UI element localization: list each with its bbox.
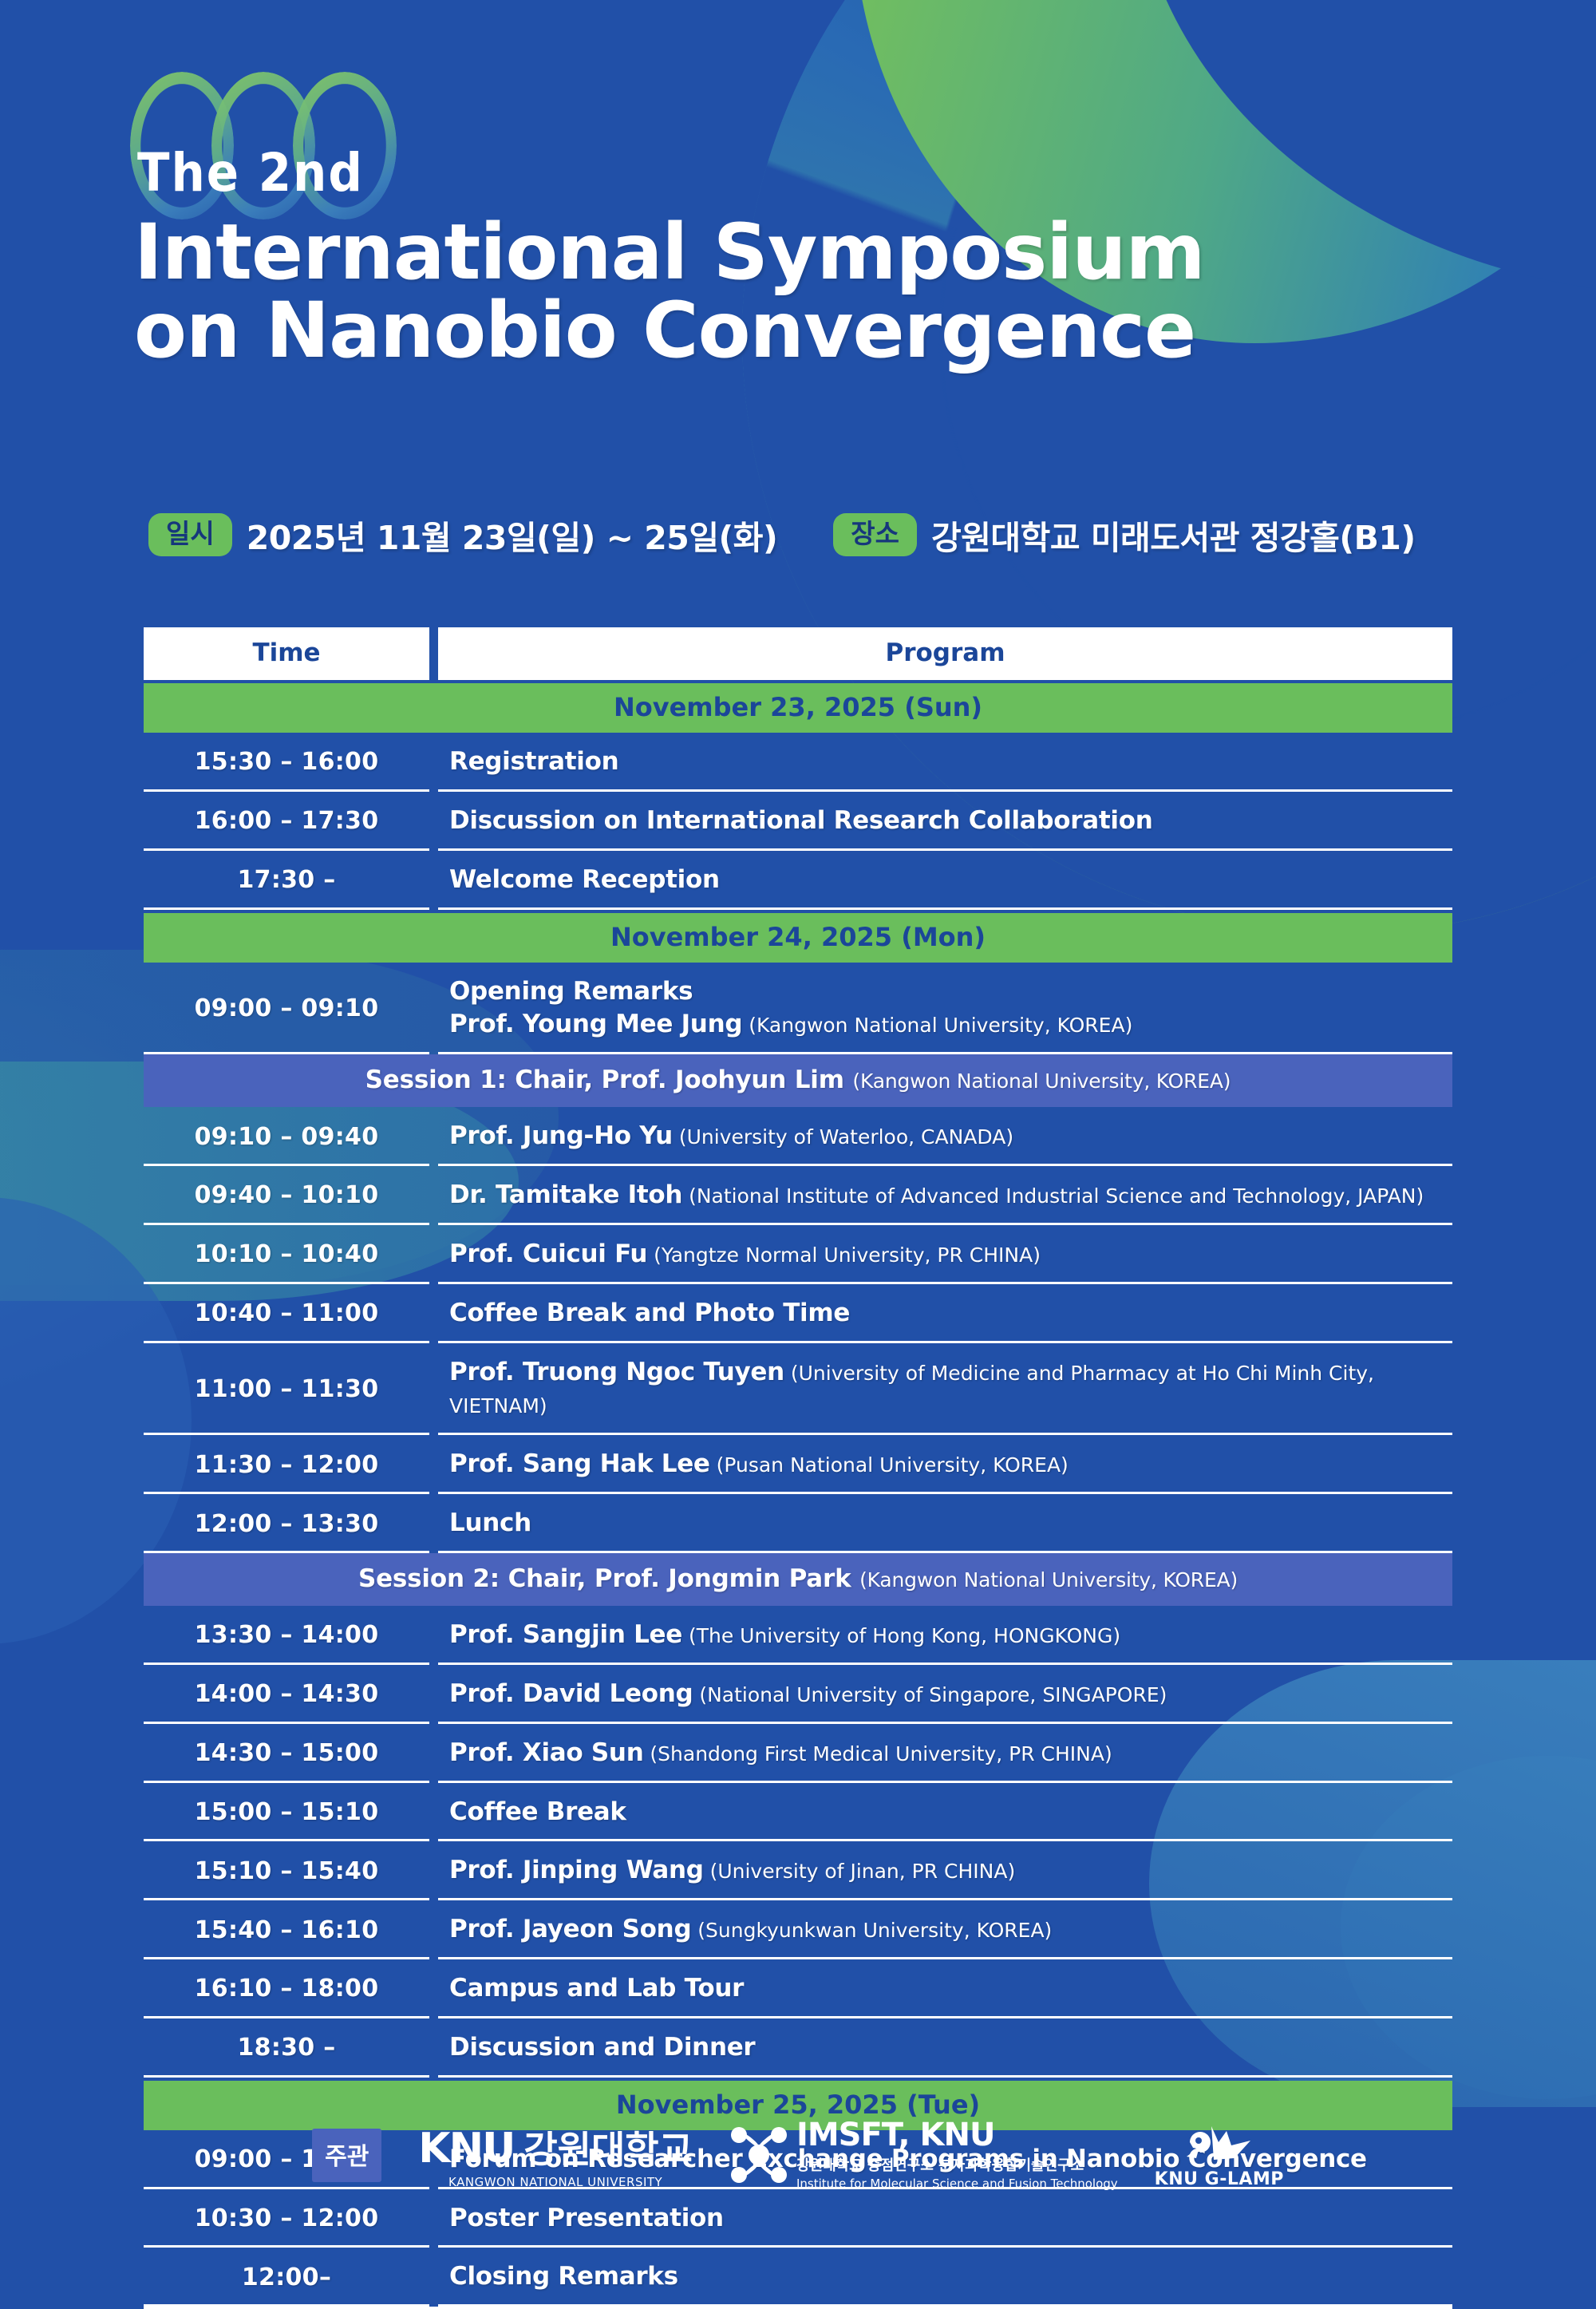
- row-program: Lunch: [438, 1494, 1452, 1553]
- glamp-logo: KNU G-LAMP: [1155, 2121, 1284, 2189]
- program-line: Welcome Reception: [449, 864, 1452, 897]
- row-time: 12:00–: [144, 2248, 429, 2307]
- row-program: Coffee Break and Photo Time: [438, 1284, 1452, 1343]
- imsft-title: IMSFT, KNU: [796, 2119, 1118, 2151]
- table-row: 10:30 – 12:00Poster Presentation: [144, 2189, 1452, 2248]
- table-row: 15:30 – 16:00Registration: [144, 733, 1452, 792]
- row-time: 15:40 – 16:10: [144, 1900, 429, 1959]
- table-row: 09:00 – 09:10Opening RemarksProf. Young …: [144, 963, 1452, 1055]
- row-time: 18:30 –: [144, 2018, 429, 2078]
- program-affiliation: (University of Waterloo, CANADA): [673, 1125, 1013, 1149]
- row-program: Prof. Xiao Sun (Shandong First Medical U…: [438, 1724, 1452, 1783]
- table-row: 12:00 – 13:30Lunch: [144, 1494, 1452, 1553]
- row-time: 16:00 – 17:30: [144, 792, 429, 851]
- column-gap: [429, 1435, 438, 1494]
- row-time: 14:00 – 14:30: [144, 1665, 429, 1724]
- row-time: 11:00 – 11:30: [144, 1343, 429, 1436]
- program-title: Prof. Jinping Wang: [449, 1856, 704, 1884]
- row-program: Prof. Sang Hak Lee (Pusan National Unive…: [438, 1435, 1452, 1494]
- session-header: Session 1: Chair, Prof. Joohyun Lim (Kan…: [144, 1054, 1452, 1107]
- program-line: Registration: [449, 745, 1452, 779]
- row-program: Registration: [438, 733, 1452, 792]
- organizer-badge: 주관: [312, 2129, 381, 2182]
- row-program: Coffee Break: [438, 1783, 1452, 1842]
- imsft-text-block: IMSFT, KNU 강원대학교 중점연구소 분자과학융합기술연구소 Insti…: [796, 2119, 1118, 2191]
- date-text: 2025년 11월 23일(일) ~ 25일(화): [247, 511, 778, 559]
- program-title: Prof. Young Mee Jung: [449, 1010, 742, 1038]
- program-title: Opening Remarks: [449, 977, 693, 1006]
- row-program: Poster Presentation: [438, 2189, 1452, 2248]
- table-row: 16:00 – 17:30Discussion on International…: [144, 792, 1452, 851]
- program-title: Closing Remarks: [449, 2262, 678, 2291]
- row-time: 10:40 – 11:00: [144, 1284, 429, 1343]
- session-affiliation: (Kangwon National University, KOREA): [859, 1568, 1238, 1591]
- date-badge: 일시: [148, 513, 232, 556]
- column-gap: [429, 733, 438, 792]
- column-gap: [429, 1900, 438, 1959]
- row-program: Discussion on International Research Col…: [438, 792, 1452, 851]
- column-gap: [429, 792, 438, 851]
- program-title: Discussion and Dinner: [449, 2033, 755, 2062]
- program-affiliation: (Shandong First Medical University, PR C…: [643, 1742, 1112, 1765]
- program-line: Dr. Tamitake Itoh (National Institute of…: [449, 1179, 1452, 1212]
- program-line: Opening Remarks: [449, 975, 1452, 1009]
- venue-text: 강원대학교 미래도서관 정강홀(B1): [931, 511, 1416, 559]
- session-header: Session 2: Chair, Prof. Jongmin Park (Ka…: [144, 1553, 1452, 1606]
- table-row: 15:00 – 15:10Coffee Break: [144, 1783, 1452, 1842]
- row-time: 10:30 – 12:00: [144, 2189, 429, 2248]
- row-time: 12:00 – 13:30: [144, 1494, 429, 1553]
- table-row: 15:40 – 16:10Prof. Jayeon Song (Sungkyun…: [144, 1900, 1452, 1959]
- column-header-program: Program: [438, 627, 1452, 680]
- program-title: Prof. Xiao Sun: [449, 1738, 643, 1767]
- program-title: Prof. Truong Ngoc Tuyen: [449, 1358, 784, 1386]
- row-time: 17:30 –: [144, 851, 429, 910]
- row-time: 15:30 – 16:00: [144, 733, 429, 792]
- table-row: 10:40 – 11:00Coffee Break and Photo Time: [144, 1284, 1452, 1343]
- row-time: 13:30 – 14:00: [144, 1606, 429, 1665]
- program-affiliation: (Kangwon National University, KOREA): [742, 1014, 1132, 1037]
- imsft-korean: 강원대학교 중점연구소 분자과학융합기술연구소: [796, 2154, 1118, 2175]
- program-line: Prof. Young Mee Jung (Kangwon National U…: [449, 1008, 1452, 1042]
- column-gap: [429, 1343, 438, 1436]
- event-meta: 일시 2025년 11월 23일(일) ~ 25일(화) 장소 강원대학교 미래…: [148, 511, 1416, 559]
- footer-logos: 주관 KNU 강원대학교 KANGWON NATIONAL UNIVERSITY…: [0, 2119, 1596, 2191]
- session-title: Session 1: Chair, Prof. Joohyun Lim: [365, 1066, 844, 1094]
- table-body: November 23, 2025 (Sun)15:30 – 16:00Regi…: [144, 683, 1452, 2309]
- table-row: 14:00 – 14:30Prof. David Leong (National…: [144, 1665, 1452, 1724]
- program-title: Prof. Cuicui Fu: [449, 1240, 647, 1268]
- program-line: Coffee Break: [449, 1796, 1452, 1829]
- column-gap: [429, 1284, 438, 1343]
- row-program: Prof. Jayeon Song (Sungkyunkwan Universi…: [438, 1900, 1452, 1959]
- row-program: Prof. David Leong (National University o…: [438, 1665, 1452, 1724]
- program-affiliation: (National Institute of Advanced Industri…: [682, 1184, 1424, 1208]
- table-row: 16:10 – 18:00Campus and Lab Tour: [144, 1959, 1452, 2018]
- row-program: Discussion and Dinner: [438, 2018, 1452, 2078]
- program-line: Closing Remarks: [449, 2260, 1452, 2294]
- column-gap: [429, 963, 438, 1055]
- program-title: Coffee Break: [449, 1797, 626, 1826]
- program-title: Registration: [449, 747, 618, 776]
- column-gap: [429, 1606, 438, 1665]
- table-row: 12:00–Closing Remarks: [144, 2248, 1452, 2309]
- row-program: Prof. Jung-Ho Yu (University of Waterloo…: [438, 1107, 1452, 1166]
- program-line: Poster Presentation: [449, 2202, 1452, 2236]
- program-affiliation: (Yangtze Normal University, PR CHINA): [647, 1243, 1041, 1267]
- table-row: 17:30 –Welcome Reception: [144, 851, 1452, 910]
- program-title: Coffee Break and Photo Time: [449, 1299, 850, 1327]
- program-title: Discussion on International Research Col…: [449, 806, 1153, 835]
- row-time: 16:10 – 18:00: [144, 1959, 429, 2018]
- column-header-time: Time: [144, 627, 429, 680]
- molecule-icon: [729, 2125, 788, 2184]
- column-gap: [429, 1107, 438, 1166]
- column-gap: [429, 1724, 438, 1783]
- program-title: Dr. Tamitake Itoh: [449, 1180, 682, 1209]
- row-time: 09:00 – 09:10: [144, 963, 429, 1055]
- program-title: Welcome Reception: [449, 865, 720, 894]
- program-affiliation: (Pusan National University, KOREA): [710, 1453, 1069, 1477]
- row-program: Prof. Jinping Wang (University of Jinan,…: [438, 1841, 1452, 1900]
- table-row: 10:10 – 10:40Prof. Cuicui Fu (Yangtze No…: [144, 1225, 1452, 1284]
- column-gap: [429, 1665, 438, 1724]
- program-title: Prof. David Leong: [449, 1679, 693, 1708]
- row-program: Prof. Sangjin Lee (The University of Hon…: [438, 1606, 1452, 1665]
- knu-mark-text: KNU: [418, 2125, 514, 2173]
- row-program: Closing Remarks: [438, 2248, 1452, 2307]
- row-program: Welcome Reception: [438, 851, 1452, 910]
- program-title: Prof. Jayeon Song: [449, 1915, 691, 1943]
- row-time: 11:30 – 12:00: [144, 1435, 429, 1494]
- column-gap: [429, 2248, 438, 2307]
- program-line: Lunch: [449, 1507, 1452, 1540]
- row-program: Prof. Cuicui Fu (Yangtze Normal Universi…: [438, 1225, 1452, 1284]
- glamp-label: KNU G-LAMP: [1155, 2169, 1284, 2189]
- program-title: Campus and Lab Tour: [449, 1974, 744, 2003]
- table-row: 15:10 – 15:40Prof. Jinping Wang (Univers…: [144, 1841, 1452, 1900]
- column-gap: [429, 1494, 438, 1553]
- venue-badge: 장소: [833, 513, 917, 556]
- program-affiliation: (University of Jinan, PR CHINA): [704, 1860, 1016, 1883]
- column-gap: [429, 1166, 438, 1225]
- row-time: 10:10 – 10:40: [144, 1225, 429, 1284]
- table-row: 09:40 – 10:10Dr. Tamitake Itoh (National…: [144, 1166, 1452, 1225]
- program-title: Lunch: [449, 1508, 531, 1537]
- page-title: International Symposium on Nanobio Conve…: [134, 214, 1205, 370]
- program-title: Prof. Sang Hak Lee: [449, 1449, 710, 1478]
- program-affiliation: (The University of Hong Kong, HONGKONG): [682, 1624, 1120, 1647]
- imsft-english: Institute for Molecular Science and Fusi…: [796, 2177, 1118, 2191]
- program-title: Poster Presentation: [449, 2204, 724, 2232]
- knu-logo: KNU 강원대학교 KANGWON NATIONAL UNIVERSITY: [418, 2121, 693, 2189]
- program-line: Coffee Break and Photo Time: [449, 1297, 1452, 1330]
- row-time: 15:10 – 15:40: [144, 1841, 429, 1900]
- program-line: Discussion on International Research Col…: [449, 805, 1452, 838]
- program-line: Prof. David Leong (National University o…: [449, 1678, 1452, 1711]
- column-gap: [429, 2189, 438, 2248]
- row-time: 14:30 – 15:00: [144, 1724, 429, 1783]
- column-gap: [429, 1841, 438, 1900]
- table-row: 11:00 – 11:30Prof. Truong Ngoc Tuyen (Un…: [144, 1343, 1452, 1436]
- table-row: 14:30 – 15:00Prof. Xiao Sun (Shandong Fi…: [144, 1724, 1452, 1783]
- column-gap: [429, 851, 438, 910]
- program-title: Prof. Sangjin Lee: [449, 1620, 682, 1649]
- day-header: November 24, 2025 (Mon): [144, 913, 1452, 963]
- column-gap: [429, 2018, 438, 2078]
- title-line-1: International Symposium: [134, 214, 1205, 292]
- imsft-logo: IMSFT, KNU 강원대학교 중점연구소 분자과학융합기술연구소 Insti…: [729, 2119, 1118, 2191]
- program-affiliation: (Sungkyunkwan University, KOREA): [691, 1919, 1052, 1942]
- table-header-row: Time Program: [144, 627, 1452, 680]
- knu-subtitle-text: KANGWON NATIONAL UNIVERSITY: [448, 2175, 662, 2189]
- row-program: Campus and Lab Tour: [438, 1959, 1452, 2018]
- table-row: 09:10 – 09:40Prof. Jung-Ho Yu (Universit…: [144, 1107, 1452, 1166]
- program-line: Prof. Xiao Sun (Shandong First Medical U…: [449, 1737, 1452, 1770]
- program-line: Prof. Jinping Wang (University of Jinan,…: [449, 1854, 1452, 1888]
- eyebrow-text: The 2nd: [137, 142, 364, 204]
- program-line: Prof. Truong Ngoc Tuyen (University of M…: [449, 1356, 1452, 1423]
- column-gap: [429, 1783, 438, 1842]
- program-title: Prof. Jung-Ho Yu: [449, 1121, 673, 1150]
- row-time: 15:00 – 15:10: [144, 1783, 429, 1842]
- table-row: 13:30 – 14:00Prof. Sangjin Lee (The Univ…: [144, 1606, 1452, 1665]
- row-program: Opening RemarksProf. Young Mee Jung (Kan…: [438, 963, 1452, 1055]
- program-line: Prof. Jung-Ho Yu (University of Waterloo…: [449, 1120, 1452, 1153]
- knu-korean-text: 강원대학교: [523, 2121, 693, 2173]
- table-row: 11:30 – 12:00Prof. Sang Hak Lee (Pusan N…: [144, 1435, 1452, 1494]
- row-time: 09:10 – 09:40: [144, 1107, 429, 1166]
- program-line: Campus and Lab Tour: [449, 1972, 1452, 2006]
- program-line: Prof. Cuicui Fu (Yangtze Normal Universi…: [449, 1238, 1452, 1271]
- glamp-bird-icon: [1185, 2121, 1254, 2165]
- program-line: Prof. Sangjin Lee (The University of Hon…: [449, 1619, 1452, 1652]
- program-line: Prof. Sang Hak Lee (Pusan National Unive…: [449, 1448, 1452, 1481]
- session-affiliation: (Kangwon National University, KOREA): [852, 1069, 1231, 1093]
- program-affiliation: (National University of Singapore, SINGA…: [693, 1683, 1167, 1706]
- title-line-2: on Nanobio Convergence: [134, 292, 1205, 370]
- table-row: 18:30 –Discussion and Dinner: [144, 2018, 1452, 2078]
- row-program: Prof. Truong Ngoc Tuyen (University of M…: [438, 1343, 1452, 1436]
- column-gap: [429, 1225, 438, 1284]
- program-line: Discussion and Dinner: [449, 2031, 1452, 2065]
- column-gap: [429, 1959, 438, 2018]
- session-title: Session 2: Chair, Prof. Jongmin Park: [358, 1564, 851, 1593]
- row-program: Dr. Tamitake Itoh (National Institute of…: [438, 1166, 1452, 1225]
- program-line: Prof. Jayeon Song (Sungkyunkwan Universi…: [449, 1913, 1452, 1947]
- row-time: 09:40 – 10:10: [144, 1166, 429, 1225]
- day-header: November 23, 2025 (Sun): [144, 683, 1452, 733]
- program-table: Time Program November 23, 2025 (Sun)15:3…: [144, 627, 1452, 2309]
